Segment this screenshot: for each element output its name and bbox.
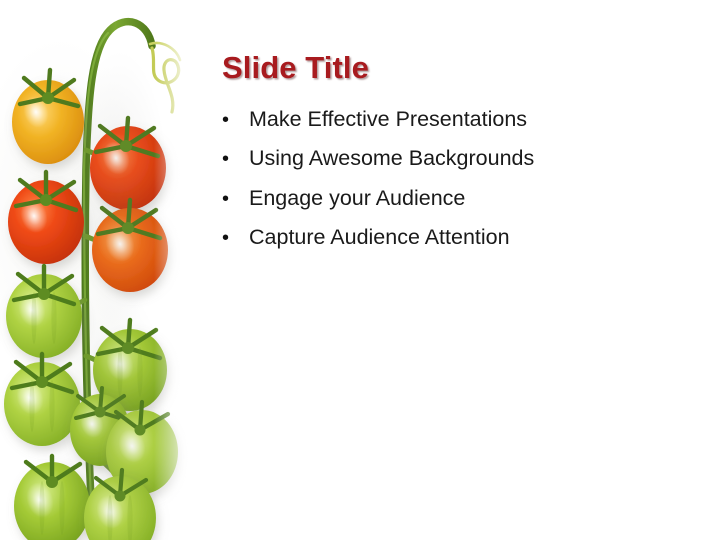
list-item[interactable]: • Using Awesome Backgrounds bbox=[222, 146, 692, 172]
list-item-label: Make Effective Presentations bbox=[249, 107, 692, 132]
tomato-vine-illustration bbox=[0, 0, 200, 540]
bullet-marker-icon: • bbox=[222, 148, 249, 172]
presentation-slide: Slide Title • Make Effective Presentatio… bbox=[0, 0, 720, 540]
list-item[interactable]: • Make Effective Presentations bbox=[222, 107, 692, 133]
list-item-label: Using Awesome Backgrounds bbox=[249, 146, 692, 171]
list-item-label: Capture Audience Attention bbox=[249, 225, 692, 250]
slide-content: Slide Title • Make Effective Presentatio… bbox=[222, 52, 692, 265]
bullet-marker-icon: • bbox=[222, 188, 249, 212]
list-item[interactable]: • Engage your Audience bbox=[222, 186, 692, 212]
list-item[interactable]: • Capture Audience Attention bbox=[222, 225, 692, 251]
bullet-marker-icon: • bbox=[222, 227, 249, 251]
bullet-list: • Make Effective Presentations • Using A… bbox=[222, 107, 692, 251]
tomato-vine-photo bbox=[0, 0, 200, 540]
list-item-label: Engage your Audience bbox=[249, 186, 692, 211]
page-title[interactable]: Slide Title bbox=[222, 52, 692, 85]
bullet-marker-icon: • bbox=[222, 109, 249, 133]
